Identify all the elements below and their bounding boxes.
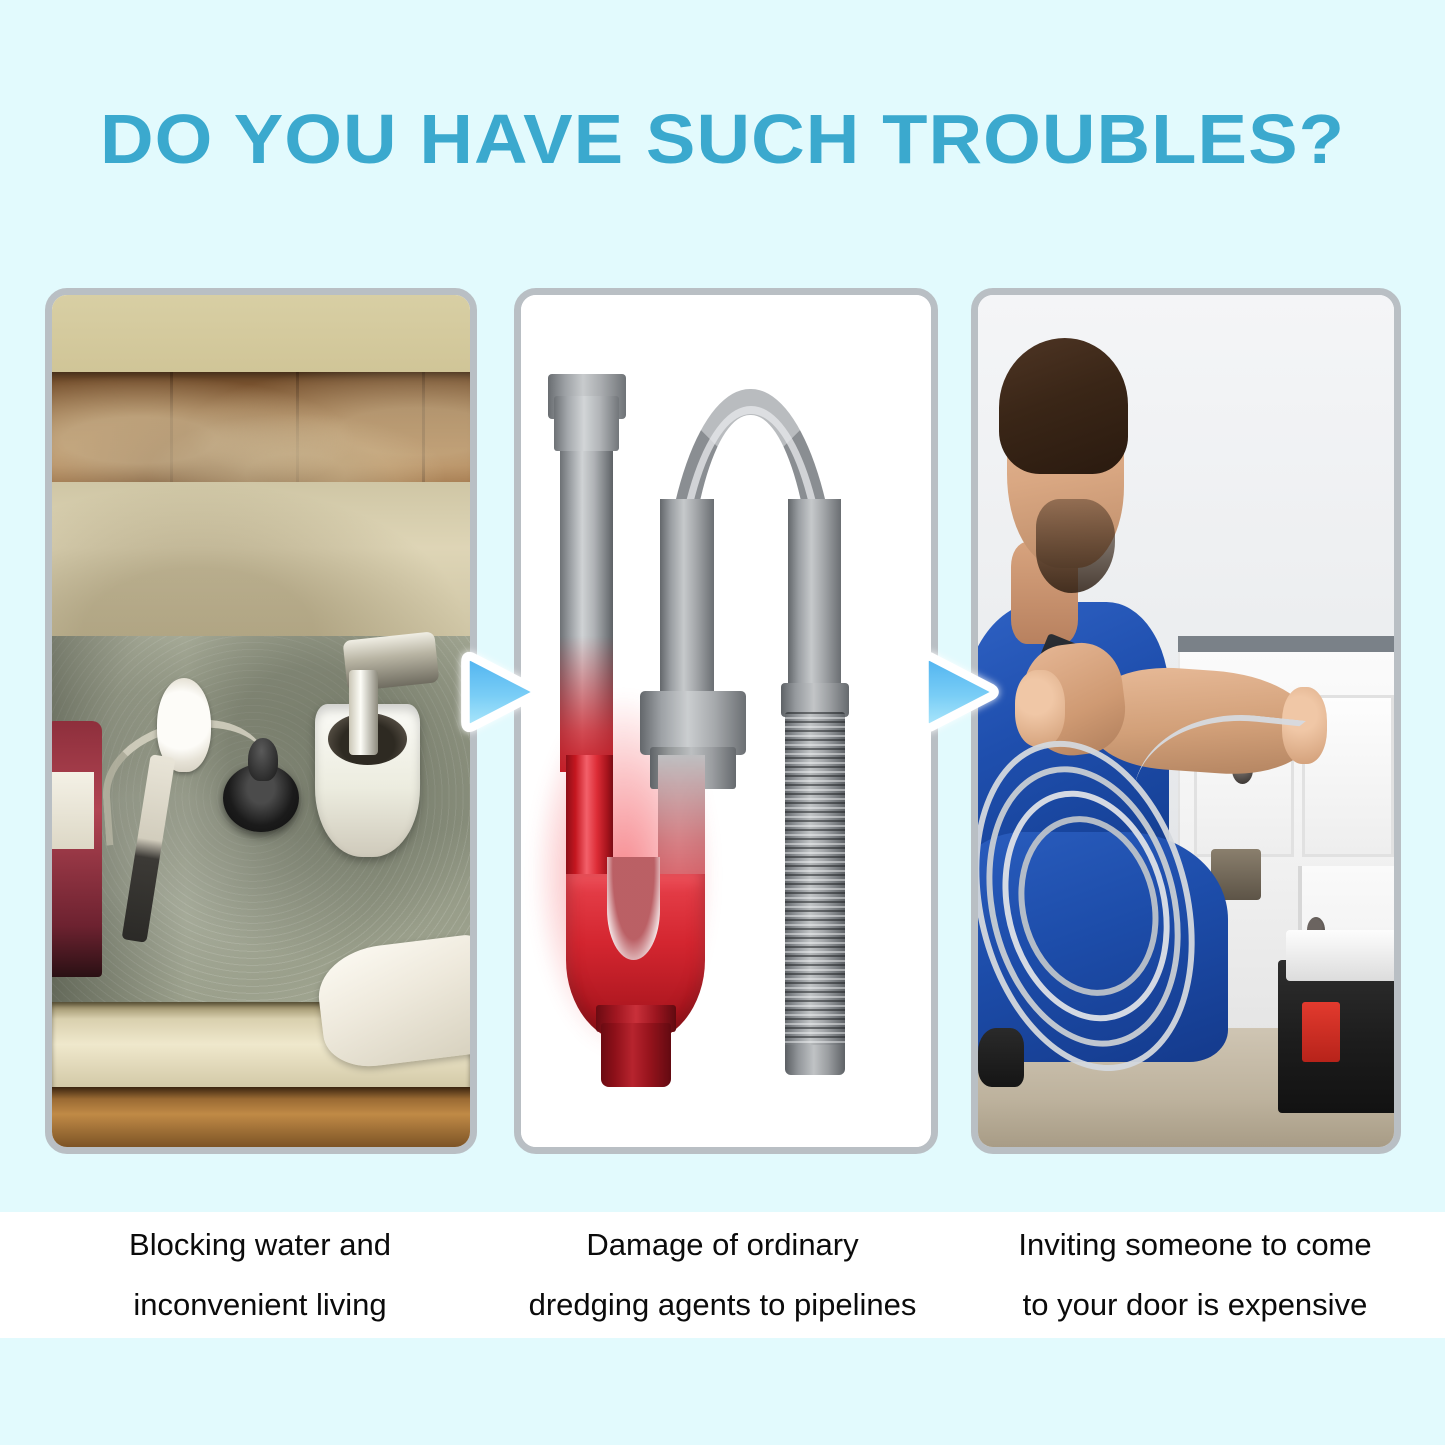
panel-plumber	[971, 288, 1401, 1154]
caption-line-2: inconvenient living	[133, 1275, 386, 1335]
caption-line-2: dredging agents to pipelines	[529, 1275, 917, 1335]
caption-line-1: Damage of ordinary	[586, 1215, 858, 1275]
soap-bottle	[52, 721, 102, 977]
arrow-panel2-to-panel3	[911, 644, 1007, 740]
toolbox-lid	[1286, 930, 1394, 981]
flex-hose-end	[785, 1045, 844, 1075]
caption-band: Blocking water and inconvenient living D…	[0, 1212, 1445, 1338]
panel-row	[0, 288, 1445, 1154]
trap-u-bend-notch-shade	[607, 857, 660, 959]
panel-damaged-pipe	[514, 288, 938, 1154]
pipe-riser-left	[660, 499, 713, 721]
plumber-left-hand	[1015, 670, 1065, 747]
clogged-sink-photo	[52, 295, 470, 1147]
caption-damaged-pipe: Damage of ordinary dredging agents to pi…	[480, 1212, 965, 1338]
pipe-outlet-collar	[640, 691, 747, 755]
arrow-panel1-to-panel2	[452, 644, 548, 740]
plumber-hair	[999, 338, 1128, 474]
toolbox-latch	[1302, 1002, 1339, 1062]
corrugated-flex-hose	[785, 712, 844, 1061]
damaged-pipe-diagram	[521, 295, 931, 1147]
caption-line-1: Inviting someone to come	[1018, 1215, 1371, 1275]
panel-clogged-sink	[45, 288, 477, 1154]
caption-line-1: Blocking water and	[129, 1215, 391, 1275]
page-title: DO YOU HAVE SUCH TROUBLES?	[0, 104, 1445, 174]
caption-clogged-sink: Blocking water and inconvenient living	[40, 1212, 480, 1338]
cleanout-cap	[601, 1023, 671, 1087]
pipe-riser-right	[788, 499, 841, 695]
wood-cabinet	[52, 1087, 470, 1147]
plumber-shoe	[978, 1028, 1024, 1088]
plumber-photo	[978, 295, 1394, 1147]
faucet-stem	[349, 670, 378, 755]
pipe-inlet-red-fade	[560, 636, 613, 772]
caption-line-2: to your door is expensive	[1023, 1275, 1368, 1335]
drain-stopper-knob	[248, 738, 277, 781]
pipe-inlet-collar	[554, 396, 620, 451]
soap-bottle-label	[52, 772, 94, 849]
caption-plumber: Inviting someone to come to your door is…	[960, 1212, 1430, 1338]
